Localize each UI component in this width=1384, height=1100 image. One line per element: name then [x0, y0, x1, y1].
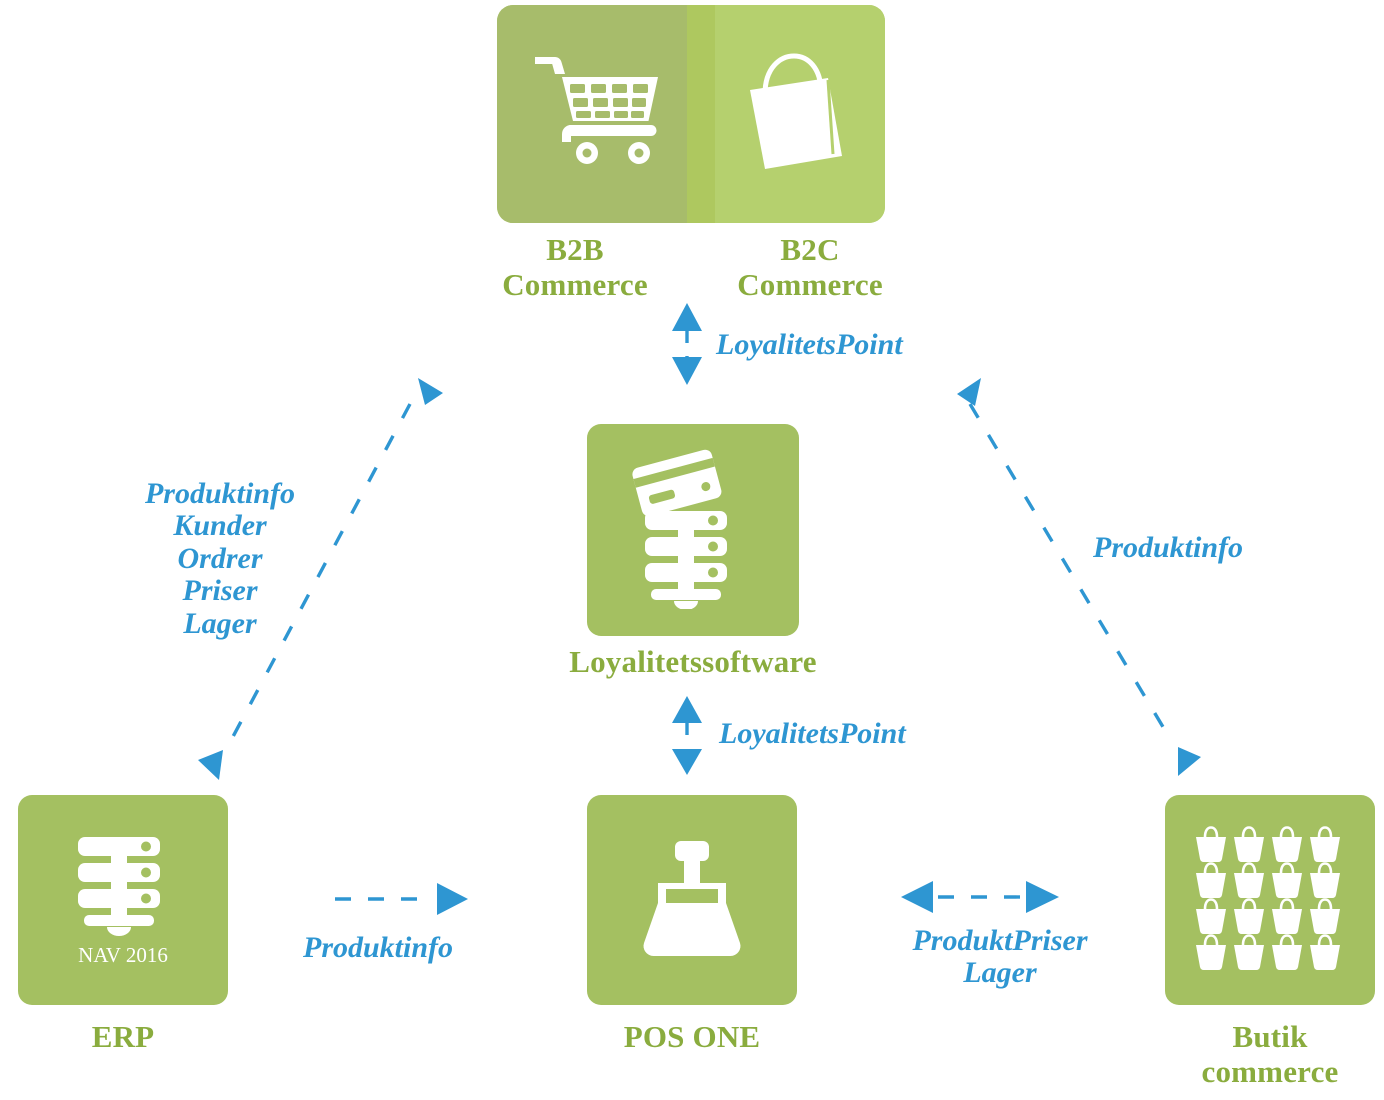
commerce-divider: [687, 5, 715, 223]
shopping-cart-icon: [535, 53, 665, 173]
shopping-bag-icon: [732, 50, 852, 175]
pos-box[interactable]: [587, 795, 797, 1005]
arrow-commerce-loyalty: [672, 303, 702, 385]
commerce-b2c-label: B2C Commerce: [695, 233, 925, 302]
flow-label-erp-commerce: Produktinfo Kunder Ordrer Priser Lager: [95, 478, 345, 640]
arrow-commerce-butik: [957, 378, 1201, 776]
flow-label-pos-butik: ProduktPriser Lager: [850, 925, 1150, 990]
basket-grid-icon: [1191, 825, 1351, 975]
flow-label-erp-pos: Produktinfo: [303, 932, 563, 964]
flow-label-commerce-butik: Produktinfo: [1093, 532, 1383, 564]
flow-label-commerce-loyalty: LoyalitetsPoint: [716, 329, 1016, 361]
flow-label-loyalty-pos: LoyalitetsPoint: [719, 718, 1019, 750]
pos-label: POS ONE: [572, 1020, 812, 1055]
erp-label: ERP: [8, 1020, 238, 1055]
commerce-box[interactable]: [497, 5, 885, 223]
server-stack-icon: [73, 833, 173, 945]
commerce-b2b-label: B2B Commerce: [460, 233, 690, 302]
cash-register-icon: [634, 839, 750, 961]
arrow-pos-butik: [901, 881, 1059, 913]
arrow-loyalty-pos: [672, 696, 702, 775]
erp-box[interactable]: NAV 2016: [18, 795, 228, 1005]
erp-inner-label: NAV 2016: [18, 943, 228, 968]
arrow-erp-pos: [335, 883, 468, 915]
butik-box[interactable]: [1165, 795, 1375, 1005]
diagram-canvas: B2B Commerce B2C Commerce: [0, 0, 1384, 1100]
loyalty-card-server-icon: [625, 449, 761, 609]
loyalty-label: Loyalitetssoftware: [533, 645, 853, 680]
loyalty-box[interactable]: [587, 424, 799, 636]
butik-label: Butik commerce: [1155, 1020, 1384, 1089]
